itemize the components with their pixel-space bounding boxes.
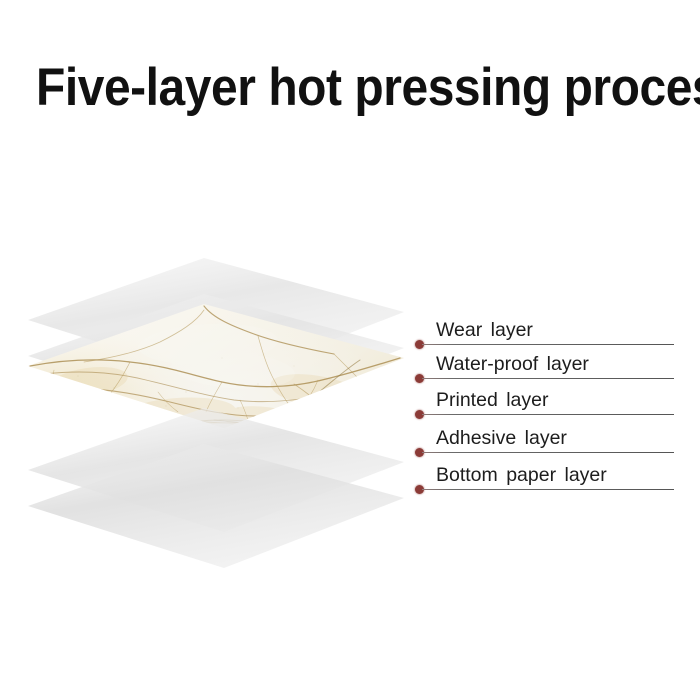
layer-callout-list: Wear layer Water-proof layer Printed lay…	[414, 300, 684, 512]
callout-water-proof-layer[interactable]: Water-proof layer	[414, 345, 676, 379]
callout-label: Wear layer	[436, 319, 533, 341]
callout-bottom-paper-layer[interactable]: Bottom paper layer	[414, 456, 676, 490]
callout-label: Printed layer	[436, 389, 548, 411]
callout-wear-layer[interactable]: Wear layer	[414, 311, 676, 345]
callout-label: Water-proof layer	[436, 353, 589, 375]
layered-flooring-infographic: Five-layer hot pressing process	[0, 0, 700, 700]
callout-label: Bottom paper layer	[436, 464, 607, 486]
callout-leader-line	[422, 489, 674, 490]
callout-leader-line	[422, 414, 674, 415]
callout-adhesive-layer[interactable]: Adhesive layer	[414, 419, 676, 453]
callout-label: Adhesive layer	[436, 427, 567, 449]
stack-sheet-bottom-paper-layer	[18, 436, 418, 700]
page-title: Five-layer hot pressing process	[36, 60, 615, 116]
callout-leader-line	[422, 452, 674, 453]
exploded-layer-stack	[18, 250, 418, 530]
callout-printed-layer[interactable]: Printed layer	[414, 381, 676, 415]
callout-leader-line	[422, 378, 674, 379]
